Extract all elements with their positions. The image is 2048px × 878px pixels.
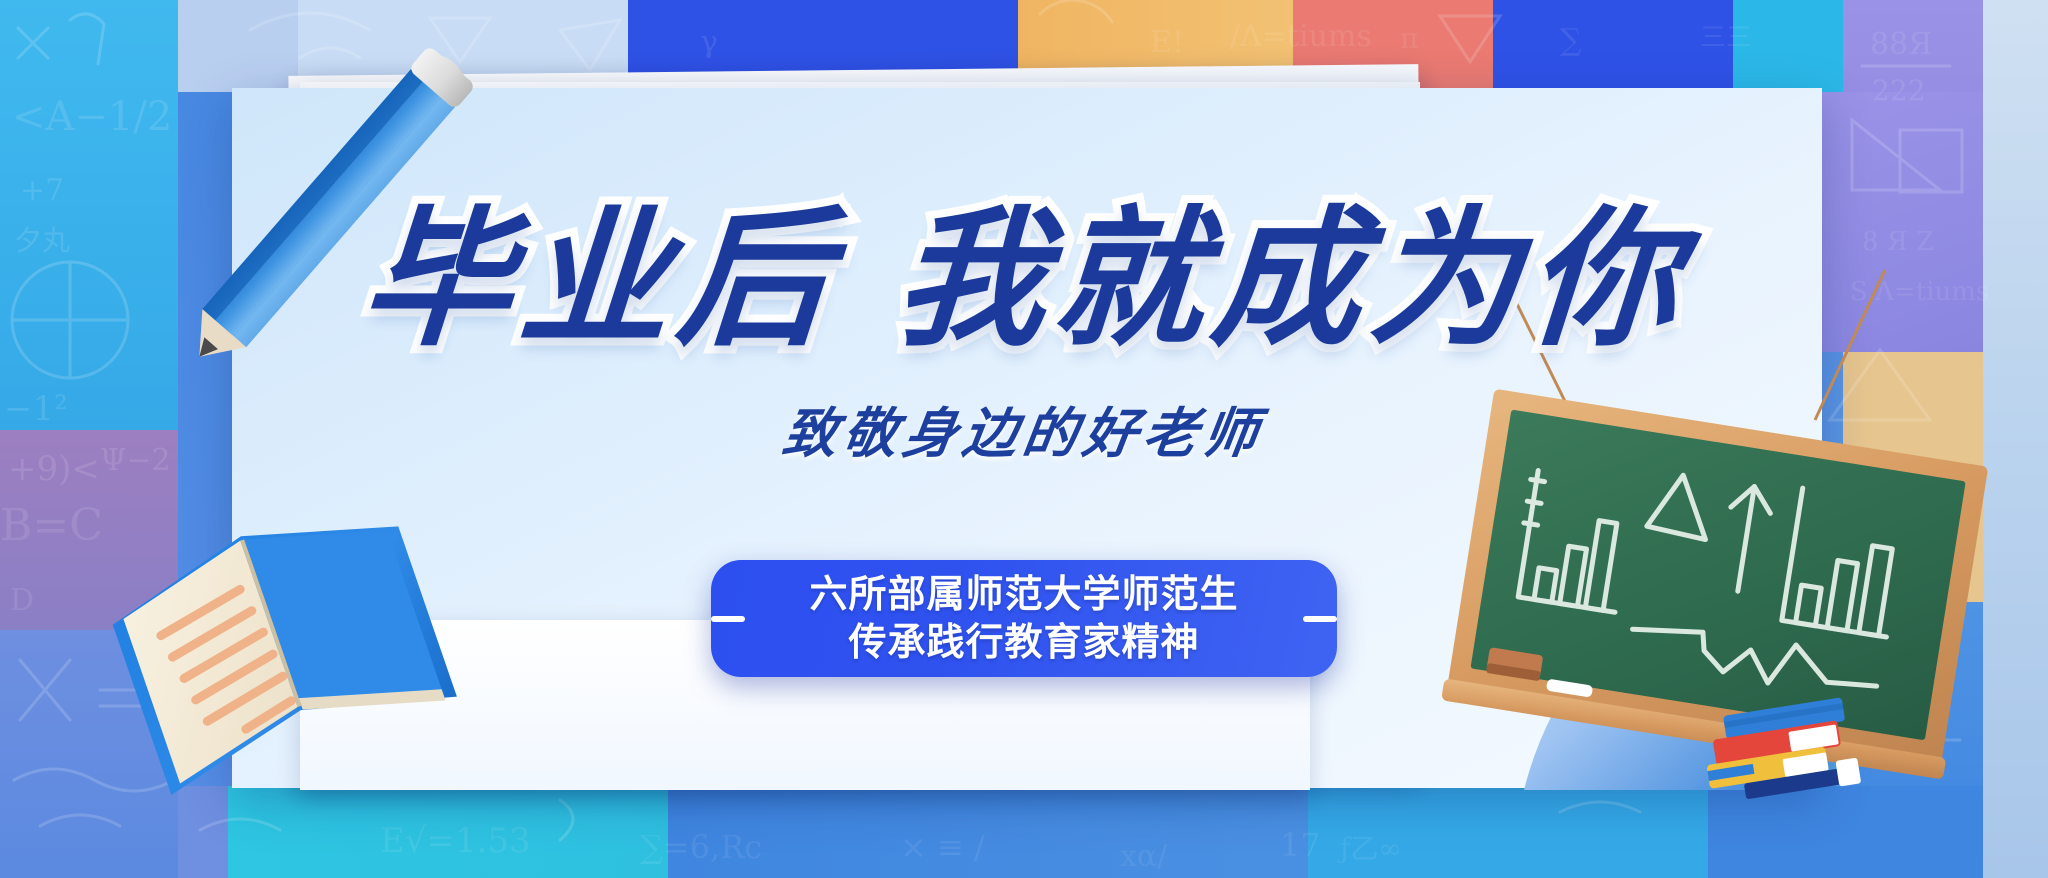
- badge-left-dash-icon: [711, 616, 745, 622]
- bg-block-bottom-blue: [668, 786, 1308, 878]
- page-title: 毕业后 我就成为你: [0, 205, 2048, 355]
- teacher-tribute-banner: <A−1/2 +7 夕丸 −1² +9)< Ψ−2 B=C D: [0, 0, 2048, 878]
- blackboard-icon: [1455, 420, 1975, 820]
- status-badge[interactable]: 六所部属师范大学师范生 传承践行教育家精神: [711, 560, 1337, 677]
- badge-line-1: 六所部属师范大学师范生: [809, 572, 1238, 616]
- open-book-icon: [96, 452, 456, 812]
- badge-label: 六所部属师范大学师范生 传承践行教育家精神: [745, 571, 1303, 667]
- page-subtitle: 致敬身边的好老师: [0, 389, 2048, 468]
- title-block: 毕业后 我就成为你 致敬身边的好老师: [0, 205, 2048, 468]
- badge-right-dash-icon: [1303, 616, 1337, 622]
- badge-line-2: 传承践行教育家精神: [848, 620, 1199, 664]
